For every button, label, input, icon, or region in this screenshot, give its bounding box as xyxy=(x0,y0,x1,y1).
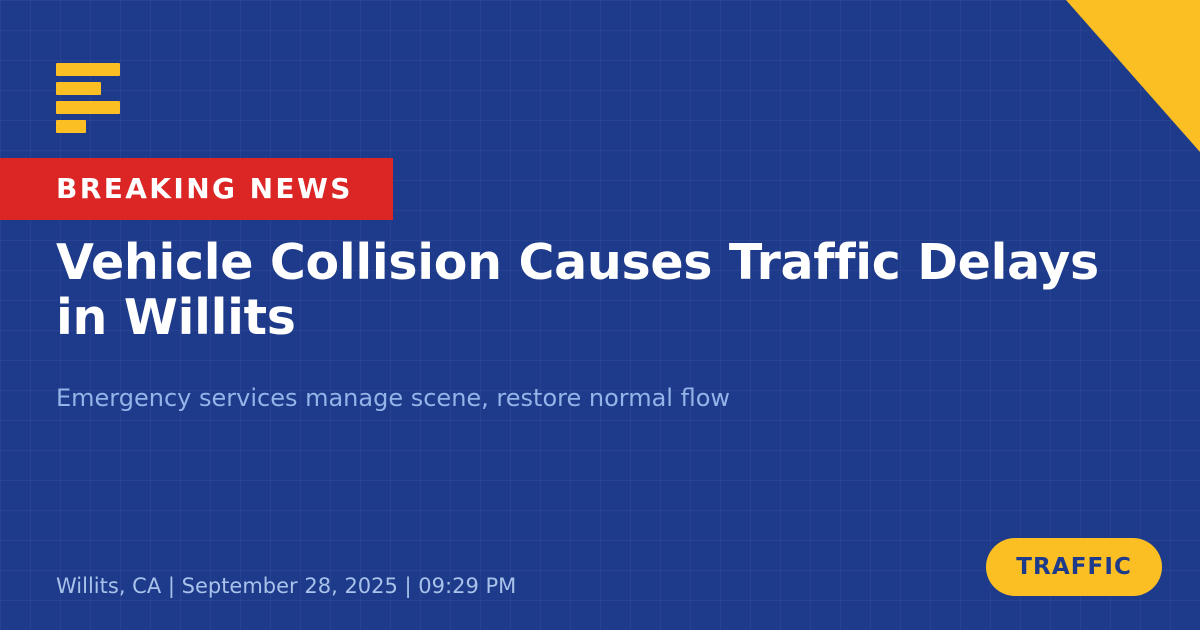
logo-bar-1 xyxy=(56,63,120,76)
page-title: Vehicle Collision Causes Traffic Delays … xyxy=(56,236,1156,346)
logo-bar-4 xyxy=(56,120,86,133)
footer-meta-line: Willits, CA | September 28, 2025 | 09:29… xyxy=(56,576,516,597)
logo-bar-3 xyxy=(56,101,120,114)
breaking-news-card: BREAKING NEWS Vehicle Collision Causes T… xyxy=(0,0,1200,630)
publisher-logo xyxy=(56,63,120,133)
breaking-news-banner: BREAKING NEWS xyxy=(0,158,393,220)
category-badge: TRAFFIC xyxy=(986,538,1162,596)
logo-bar-2 xyxy=(56,82,101,95)
category-badge-label: TRAFFIC xyxy=(1016,556,1132,579)
subtitle-text: Emergency services manage scene, restore… xyxy=(56,383,1116,414)
breaking-news-label: BREAKING NEWS xyxy=(56,175,353,203)
corner-accent-triangle xyxy=(1048,0,1200,152)
